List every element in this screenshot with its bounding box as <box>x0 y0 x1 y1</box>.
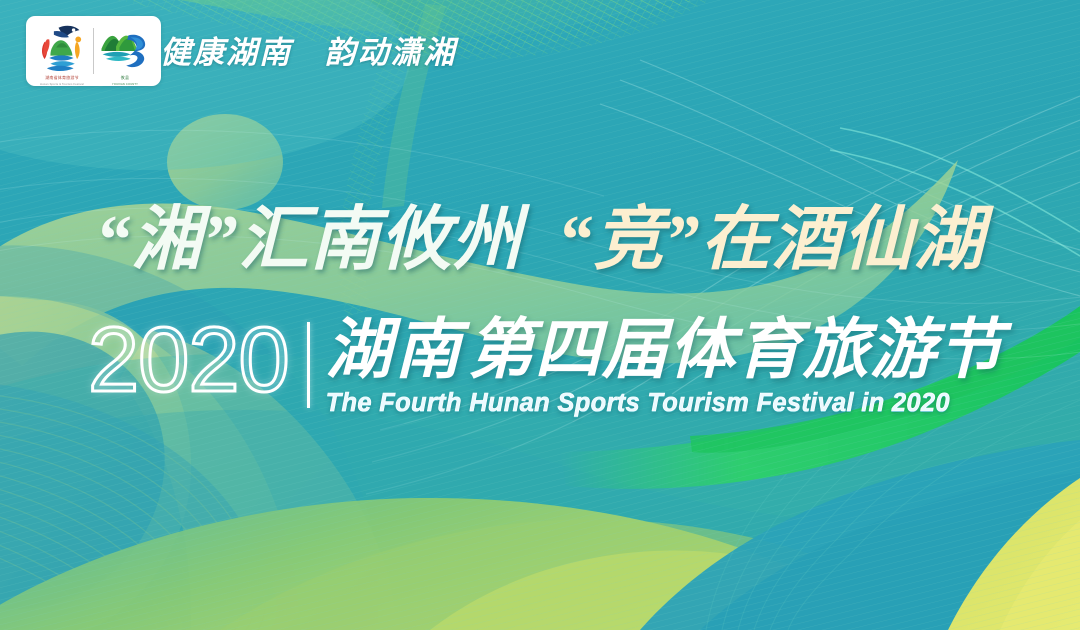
sports-tourism-festival-emblem-icon <box>33 22 91 80</box>
festival-emblem-cell[interactable]: 湖南省体育旅游节 Hunan Sports & Tourism Festival <box>31 20 93 82</box>
title-divider <box>307 322 310 408</box>
year-label: 2020 <box>88 318 289 403</box>
slogan-part2: “竞”在酒仙湖 <box>557 206 984 276</box>
title-chinese: 湖南第四届体育旅游节 <box>326 316 1004 384</box>
title-province: 湖南 <box>326 314 468 387</box>
event-slogan: “湘”汇南攸州 “竞”在酒仙湖 <box>0 206 1080 276</box>
title-text-block: 湖南第四届体育旅游节 The Fourth Hunan Sports Touri… <box>326 316 1004 418</box>
you-county-caption-en: YOUXIAN COUNTY <box>94 83 156 86</box>
tagline: 健康湖南 韵动潇湘 <box>160 27 457 72</box>
event-poster: 湖南省体育旅游节 Hunan Sports & Tourism Festival… <box>0 0 1080 630</box>
main-title-row: 2020 湖南第四届体育旅游节 The Fourth Hunan Sports … <box>88 316 1004 418</box>
title-english: The Fourth Hunan Sports Tourism Festival… <box>326 389 1004 418</box>
logo-card[interactable]: 湖南省体育旅游节 Hunan Sports & Tourism Festival… <box>26 16 161 86</box>
slogan-part1: “湘”汇南攸州 <box>96 206 523 276</box>
tagline-part1: 健康湖南 <box>160 35 292 70</box>
festival-caption-cn: 湖南省体育旅游节 <box>31 75 93 80</box>
you-county-caption-cn: 攸县 <box>94 75 156 80</box>
you-county-emblem-cell[interactable]: 攸县 YOUXIAN COUNTY <box>94 20 156 82</box>
title-event-cn: 第四届体育旅游节 <box>468 312 1004 386</box>
tagline-part2: 韵动潇湘 <box>325 35 457 70</box>
festival-caption-en: Hunan Sports & Tourism Festival <box>31 83 93 86</box>
you-county-emblem-icon <box>97 23 153 79</box>
